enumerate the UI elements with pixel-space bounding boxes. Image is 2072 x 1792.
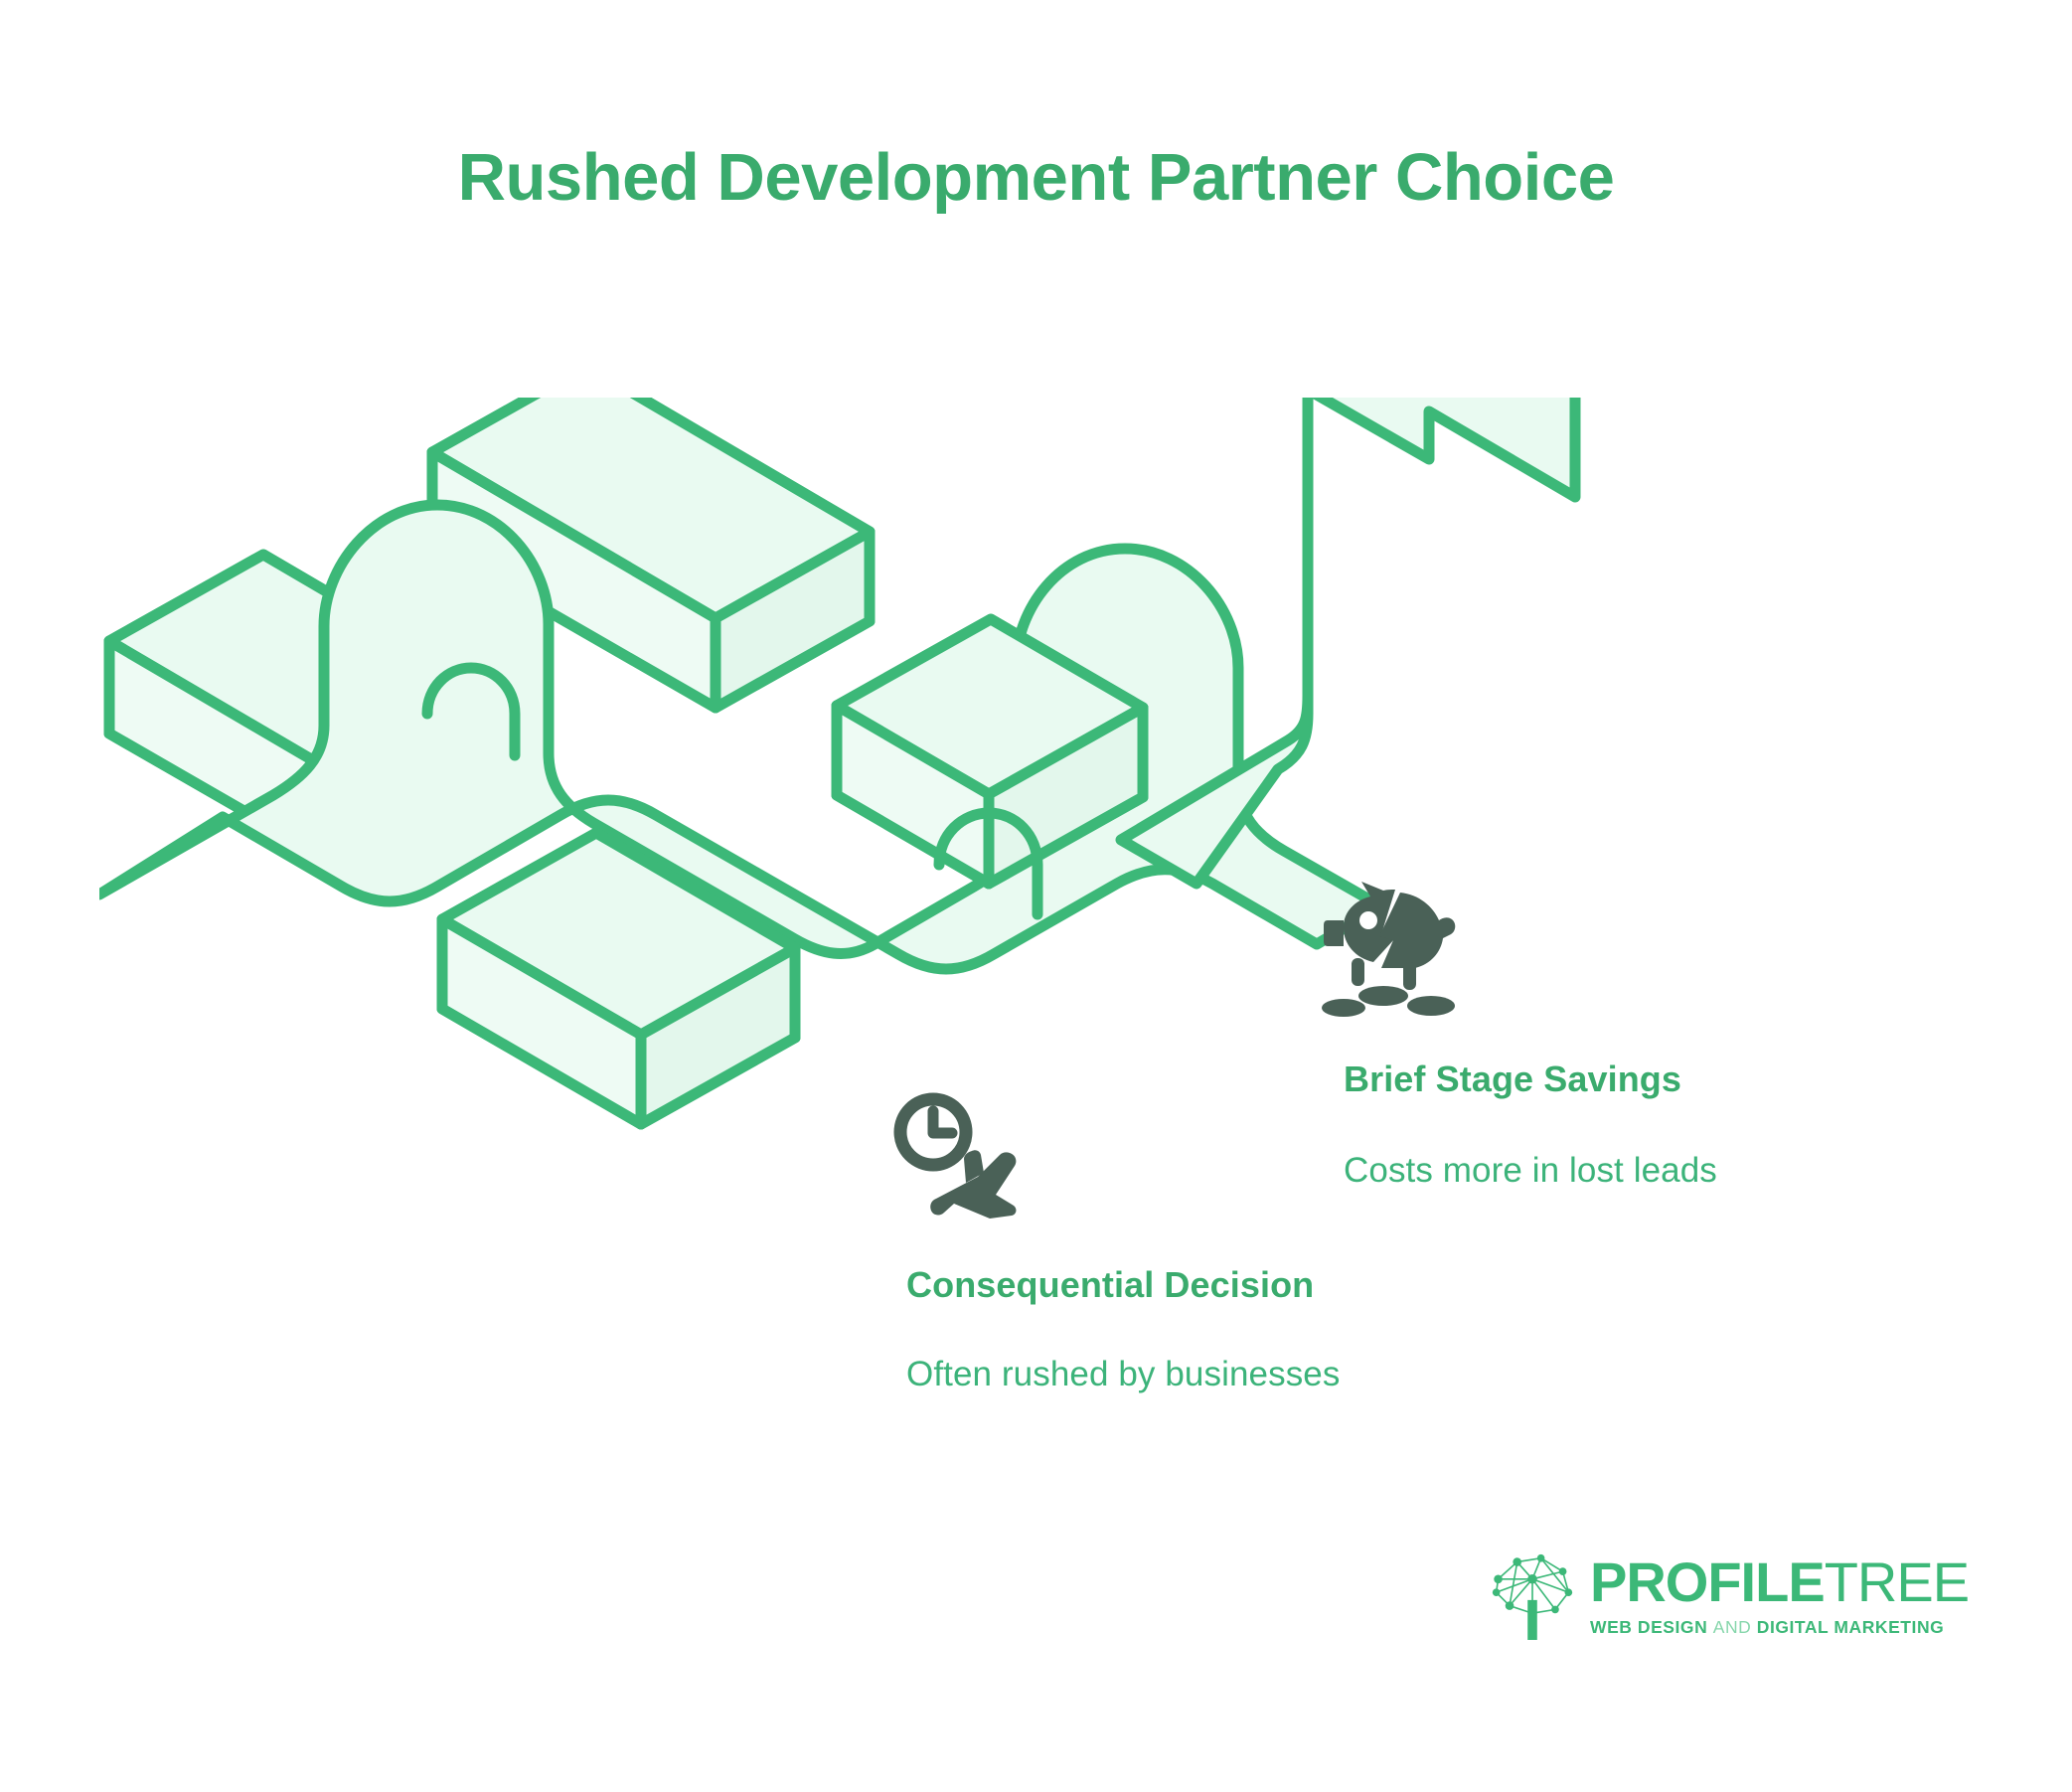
logo-wordmark: PROFILETREE bbox=[1590, 1554, 1969, 1610]
logo-text-block: PROFILETREE WEB DESIGN AND DIGITAL MARKE… bbox=[1590, 1554, 1969, 1638]
logo-tagline-and: AND bbox=[1713, 1617, 1752, 1637]
logo-word-light: TREE bbox=[1825, 1550, 1969, 1613]
clock-delayed-flight-icon bbox=[892, 1091, 1027, 1225]
callout-savings-heading: Brief Stage Savings bbox=[1344, 1059, 1681, 1100]
callout-decision-heading: Consequential Decision bbox=[906, 1264, 1314, 1306]
profiletree-logo: PROFILETREE WEB DESIGN AND DIGITAL MARKE… bbox=[1489, 1550, 1969, 1642]
callout-savings-subtext: Costs more in lost leads bbox=[1344, 1151, 1717, 1191]
page-title: Rushed Development Partner Choice bbox=[0, 139, 2072, 216]
infographic-canvas: Rushed Development Partner Choice bbox=[0, 0, 2072, 1792]
broken-piggy-bank-icon bbox=[1322, 877, 1461, 1021]
logo-tagline: WEB DESIGN AND DIGITAL MARKETING bbox=[1590, 1617, 1969, 1638]
callout-decision-subtext: Often rushed by businesses bbox=[906, 1355, 1340, 1394]
logo-tagline-part-1: WEB DESIGN bbox=[1590, 1617, 1707, 1637]
logo-tagline-part-3: DIGITAL MARKETING bbox=[1757, 1617, 1945, 1637]
network-tree-icon bbox=[1489, 1550, 1576, 1642]
logo-word-bold: PROFILE bbox=[1590, 1550, 1825, 1613]
